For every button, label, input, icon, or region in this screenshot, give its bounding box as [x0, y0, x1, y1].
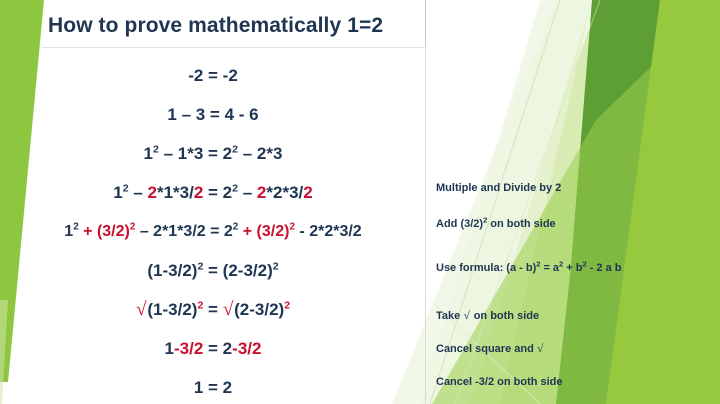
math-run: 2	[303, 183, 312, 202]
math-run: +	[79, 223, 97, 240]
math-run: Cancel -3/2 on both side	[436, 376, 563, 388]
equation-line-5: 12 + (3/2)2 – 2*1*3/2 = 22 + (3/2)2 - 2*…	[0, 212, 426, 251]
math-run: 2	[194, 183, 203, 202]
green-v-facet	[560, 0, 700, 404]
green-bright-wide	[596, 0, 720, 404]
math-run: (3/2)	[97, 223, 130, 240]
equation-line-9: 1 = 2	[0, 368, 426, 404]
math-run: –	[129, 183, 148, 202]
math-run: – 1*3 = 2	[159, 144, 232, 163]
math-run: 2	[257, 183, 266, 202]
slide-canvas: How to prove mathematically 1=2 -2 = -21…	[0, 0, 720, 404]
equation-line-1: -2 = -2	[0, 56, 426, 95]
annotation-ann-4: Take √ on both side	[436, 310, 539, 323]
vertical-divider-top	[425, 0, 426, 47]
math-run: -3/2	[174, 339, 203, 358]
math-run: *2*3/	[266, 183, 303, 202]
math-run: = (2-3/2)	[203, 261, 272, 280]
math-run: = 2	[203, 339, 232, 358]
math-run: 1	[165, 339, 174, 358]
math-run: – 2*3	[238, 144, 282, 163]
math-run: = a	[540, 262, 559, 274]
math-run: 1	[113, 183, 122, 202]
math-run: on both side	[471, 310, 539, 322]
annotation-ann-6: Cancel -3/2 on both side	[436, 376, 563, 389]
equation-line-4: 12 – 2*1*3/2 = 22 – 2*2*3/2	[0, 173, 426, 212]
math-run: + b	[563, 262, 582, 274]
equation-list: -2 = -21 – 3 = 4 - 612 – 1*3 = 22 – 2*31…	[0, 56, 426, 404]
radical-icon: √	[537, 343, 544, 355]
math-run: Add (3/2)	[436, 218, 483, 230]
page-title: How to prove mathematically 1=2	[48, 14, 383, 38]
equation-line-7: √(1-3/2)2 = √(2-3/2)2	[0, 290, 426, 329]
annotation-ann-3: Use formula: (a - b)2 = a2 + b2 - 2 a b	[436, 262, 621, 275]
math-run: 1 = 2	[194, 378, 232, 397]
green-bright-right	[668, 0, 720, 404]
math-run: *1*3/	[157, 183, 194, 202]
exponent: 2	[273, 260, 279, 272]
radical-icon: √	[223, 299, 234, 320]
radical-icon: √	[463, 310, 470, 322]
math-run: - 2*2*3/2	[295, 223, 362, 240]
math-run: 1	[64, 223, 73, 240]
math-run: Take	[436, 310, 463, 322]
math-run: on both side	[487, 218, 555, 230]
math-run: 2	[148, 183, 157, 202]
math-run: 1	[144, 144, 153, 163]
equation-line-2: 1 – 3 = 4 - 6	[0, 95, 426, 134]
exponent: 2	[284, 299, 290, 311]
math-run: – 2*1*3/2 = 2	[135, 223, 232, 240]
annotation-ann-1: Multiple and Divide by 2	[436, 182, 561, 195]
math-run: (1-3/2)	[147, 300, 197, 319]
equation-line-3: 12 – 1*3 = 22 – 2*3	[0, 134, 426, 173]
annotation-ann-5: Cancel square and √	[436, 343, 544, 356]
math-run: - 2 a b	[587, 262, 622, 274]
math-run: (2-3/2)	[234, 300, 284, 319]
radical-icon: √	[136, 299, 147, 320]
green-lime-sheet-2	[606, 0, 720, 404]
equation-line-8: 1-3/2 = 2-3/2	[0, 329, 426, 368]
title-bar: How to prove mathematically 1=2	[0, 4, 430, 48]
math-run: -3/2	[232, 339, 261, 358]
math-run: Multiple and Divide by 2	[436, 182, 561, 194]
math-run: (3/2)	[257, 223, 290, 240]
math-run: 1 – 3 = 4 - 6	[167, 105, 258, 124]
math-run: -2 = -2	[188, 66, 238, 85]
math-run: = 2	[203, 183, 232, 202]
math-run: Cancel square and	[436, 343, 537, 355]
annotation-ann-2: Add (3/2)2 on both side	[436, 218, 556, 231]
title-underline-rule	[42, 47, 426, 48]
math-run: (1-3/2)	[147, 261, 197, 280]
math-run: Use formula: (a - b)	[436, 262, 536, 274]
math-run: =	[203, 300, 222, 319]
equation-line-6: (1-3/2)2 = (2-3/2)2	[0, 251, 426, 290]
green-dark-facet	[556, 0, 700, 404]
math-run: +	[238, 223, 256, 240]
math-run: –	[238, 183, 257, 202]
